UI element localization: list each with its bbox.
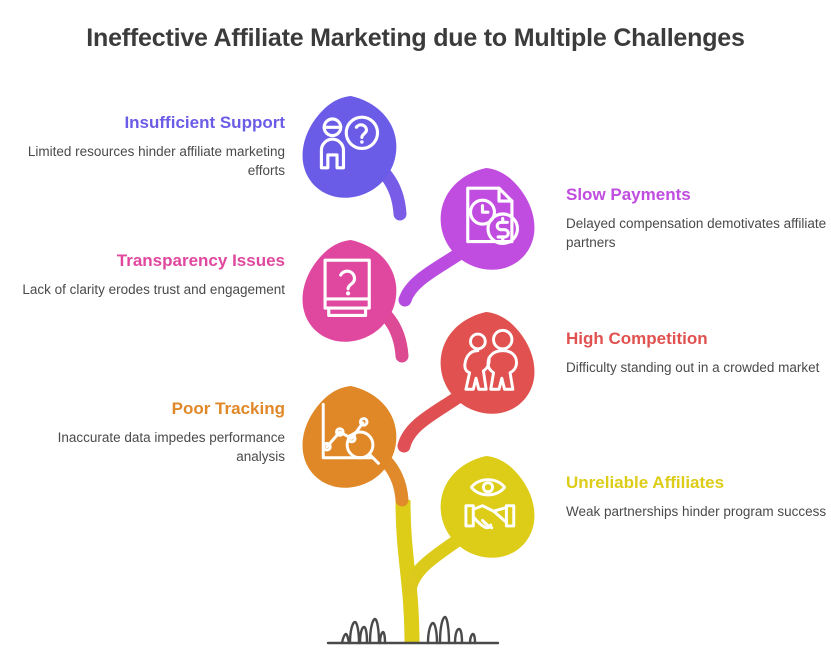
item-heading: Insufficient Support [20, 114, 285, 133]
item-body: Weak partnerships hinder program success [566, 502, 831, 522]
grass-tuft-right [428, 617, 475, 643]
infographic-canvas: Ineffective Affiliate Marketing due to M… [0, 0, 831, 656]
leaf-poor-tracking[interactable] [303, 386, 397, 488]
item-heading: Poor Tracking [20, 400, 285, 419]
item-body: Difficulty standing out in a crowded mar… [566, 358, 831, 378]
item-high-competition: High Competition Difficulty standing out… [566, 330, 831, 377]
item-body: Limited resources hinder affiliate marke… [20, 142, 285, 181]
item-heading: Slow Payments [566, 186, 831, 205]
item-body: Delayed compensation demotivates affilia… [566, 214, 831, 253]
leaf-insufficient-support[interactable] [303, 96, 397, 198]
item-slow-payments: Slow Payments Delayed compensation demot… [566, 186, 831, 253]
leaf-shape [303, 96, 397, 198]
item-body: Lack of clarity erodes trust and engagem… [20, 280, 285, 300]
item-body: Inaccurate data impedes performance anal… [20, 428, 285, 467]
item-poor-tracking: Poor Tracking Inaccurate data impedes pe… [20, 400, 285, 467]
item-insufficient-support: Insufficient Support Limited resources h… [20, 114, 285, 181]
leaf-shape [303, 240, 397, 342]
grass-tuft-left [342, 619, 385, 643]
item-heading: High Competition [566, 330, 831, 349]
tree-graphic [0, 0, 831, 656]
item-heading: Unreliable Affiliates [566, 474, 831, 493]
leaf-transparency-issues[interactable] [303, 240, 397, 342]
item-heading: Transparency Issues [20, 252, 285, 271]
item-transparency-issues: Transparency Issues Lack of clarity erod… [20, 252, 285, 299]
item-unreliable-affiliates: Unreliable Affiliates Weak partnerships … [566, 474, 831, 521]
